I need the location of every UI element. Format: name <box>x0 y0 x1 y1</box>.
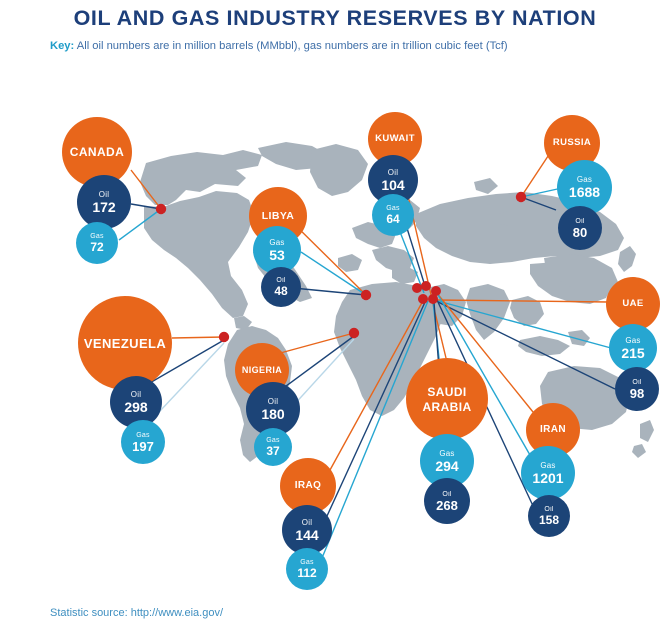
infographic-root: OIL AND GAS INDUSTRY RESERVES BY NATION … <box>0 0 670 637</box>
gas-value-canada: 72 <box>90 241 103 253</box>
oil-value-russia: 80 <box>573 226 587 239</box>
gas-value-libya: 53 <box>269 248 285 262</box>
oil-label-venezuela: Oil <box>131 391 141 399</box>
bubble-oil-uae[interactable]: Oil 98 <box>615 367 659 411</box>
bubble-gas-venezuela[interactable]: Gas 197 <box>121 420 165 464</box>
gas-value-kuwait: 64 <box>386 213 399 225</box>
gas-label-iran: Gas <box>540 462 555 470</box>
bubble-country-saudi[interactable]: SAUDI ARABIA <box>406 358 488 440</box>
marker-venezuela <box>219 332 229 342</box>
oil-label-uae: Oil <box>632 379 641 386</box>
oil-label-canada: Oil <box>99 191 109 199</box>
bubble-oil-saudi[interactable]: Oil 268 <box>424 478 470 524</box>
oil-value-saudi: 268 <box>436 499 458 512</box>
marker-hub-5 <box>428 294 438 304</box>
bubble-oil-canada[interactable]: Oil 172 <box>77 175 131 229</box>
bubble-gas-nigeria[interactable]: Gas 37 <box>254 428 292 466</box>
marker-canada <box>156 204 166 214</box>
country-label-uae: UAE <box>622 299 643 309</box>
country-label-canada: CANADA <box>70 146 124 158</box>
bubble-gas-uae[interactable]: Gas 215 <box>609 324 657 372</box>
marker-nigeria <box>349 328 359 338</box>
oil-label-iran: Oil <box>544 506 553 513</box>
country-label-nigeria: NIGERIA <box>242 366 282 375</box>
bubble-gas-canada[interactable]: Gas 72 <box>76 222 118 264</box>
bubble-oil-iran[interactable]: Oil 158 <box>528 495 570 537</box>
gas-label-canada: Gas <box>90 233 103 240</box>
country-label-kuwait: KUWAIT <box>375 134 415 144</box>
gas-value-venezuela: 197 <box>132 440 154 453</box>
bubble-oil-libya[interactable]: Oil 48 <box>261 267 301 307</box>
marker-hub-2 <box>421 281 431 291</box>
oil-label-russia: Oil <box>575 218 584 225</box>
line-venezuela-country <box>172 337 224 338</box>
marker-hub-4 <box>418 294 428 304</box>
bubble-country-venezuela[interactable]: VENEZUELA <box>78 296 172 390</box>
oil-label-kuwait: Oil <box>388 169 398 177</box>
oil-label-nigeria: Oil <box>268 398 278 406</box>
gas-label-kuwait: Gas <box>386 205 399 212</box>
oil-value-iran: 158 <box>539 514 559 526</box>
marker-libya <box>361 290 371 300</box>
country-label-iran: IRAN <box>540 425 566 435</box>
oil-value-kuwait: 104 <box>381 178 404 192</box>
bubble-gas-kuwait[interactable]: Gas 64 <box>372 194 414 236</box>
country-label-venezuela: VENEZUELA <box>84 337 166 350</box>
oil-value-nigeria: 180 <box>261 407 284 421</box>
bubble-gas-iraq[interactable]: Gas 112 <box>286 548 328 590</box>
gas-value-saudi: 294 <box>435 459 458 473</box>
gas-value-russia: 1688 <box>569 185 600 199</box>
gas-label-libya: Gas <box>269 239 284 247</box>
gas-value-nigeria: 37 <box>266 445 279 457</box>
oil-label-iraq: Oil <box>302 519 312 527</box>
oil-value-libya: 48 <box>274 285 287 297</box>
country-label-russia: RUSSIA <box>553 138 591 148</box>
country-label-saudi-line2: ARABIA <box>422 401 471 413</box>
oil-value-uae: 98 <box>630 387 644 400</box>
bubble-oil-russia[interactable]: Oil 80 <box>558 206 602 250</box>
gas-value-iran: 1201 <box>532 471 563 485</box>
bubble-country-uae[interactable]: UAE <box>606 277 660 331</box>
gas-label-venezuela: Gas <box>136 432 149 439</box>
oil-label-libya: Oil <box>276 277 285 284</box>
country-label-saudi-line1: SAUDI <box>427 386 466 398</box>
gas-label-uae: Gas <box>625 337 640 345</box>
oil-label-saudi: Oil <box>442 491 451 498</box>
gas-value-iraq: 112 <box>297 567 316 579</box>
country-label-iraq: IRAQ <box>295 481 322 491</box>
gas-label-russia: Gas <box>577 176 592 184</box>
oil-value-iraq: 144 <box>295 528 318 542</box>
country-label-libya: LIBYA <box>262 211 295 222</box>
marker-hub-1 <box>412 283 422 293</box>
bubble-gas-iran[interactable]: Gas 1201 <box>521 446 575 500</box>
oil-value-venezuela: 298 <box>124 400 147 414</box>
gas-label-iraq: Gas <box>300 559 313 566</box>
source-attribution[interactable]: Statistic source: http://www.eia.gov/ <box>50 607 223 619</box>
gas-value-uae: 215 <box>621 346 644 360</box>
oil-value-canada: 172 <box>92 200 115 214</box>
gas-label-nigeria: Gas <box>266 437 279 444</box>
gas-label-saudi: Gas <box>439 450 454 458</box>
marker-russia <box>516 192 526 202</box>
